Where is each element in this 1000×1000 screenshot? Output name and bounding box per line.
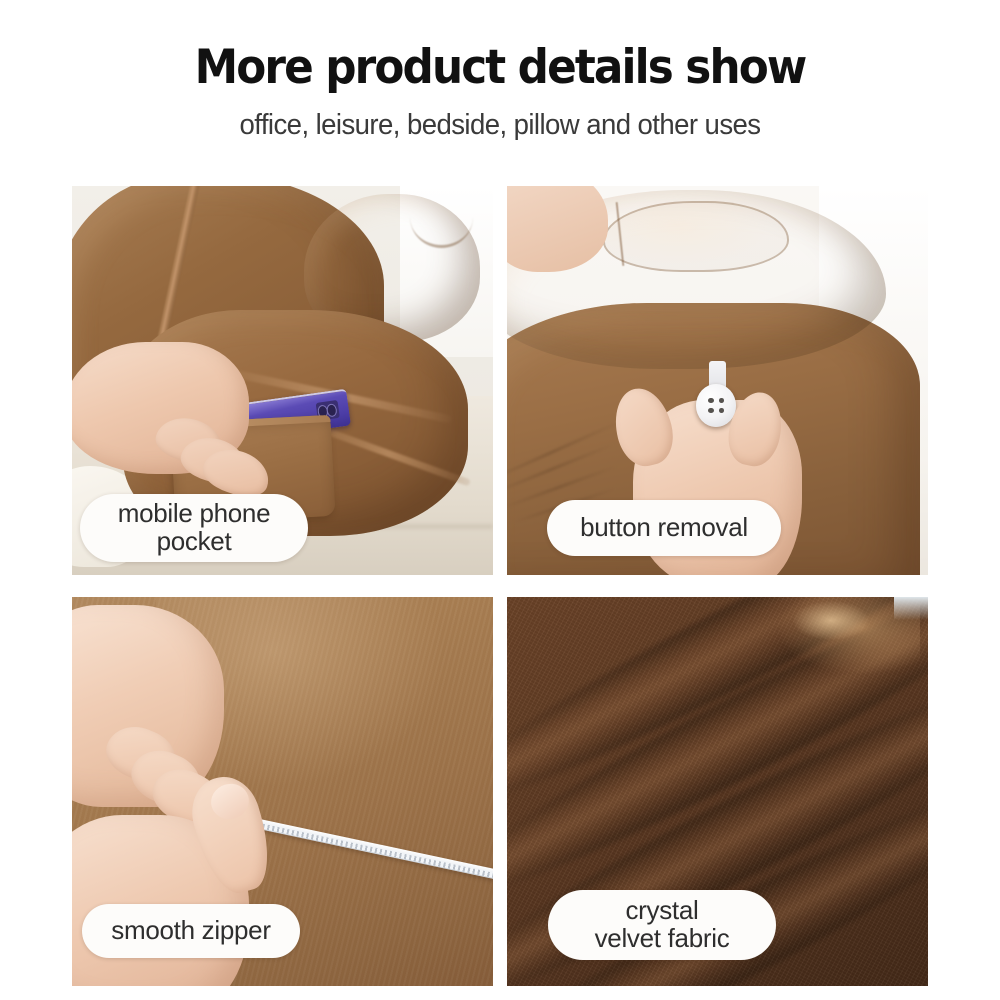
- caption-smooth-zipper: smooth zipper: [82, 904, 300, 958]
- button-hole: [708, 408, 714, 413]
- button-hole: [719, 408, 725, 413]
- fabric-wrinkle: [507, 443, 615, 497]
- bolster-seam: [410, 207, 474, 248]
- header: More product details show office, leisur…: [0, 0, 1000, 170]
- background-light: [894, 597, 928, 620]
- caption-button-removal: button removal: [547, 500, 781, 556]
- caption-mobile-phone-pocket: mobile phone pocket: [80, 494, 308, 562]
- caption-crystal-velvet-fabric: crystal velvet fabric: [548, 890, 776, 960]
- page-title: More product details show: [35, 42, 965, 94]
- fabric-wrinkle: [507, 419, 622, 485]
- page-subtitle: office, leisure, bedside, pillow and oth…: [25, 108, 975, 142]
- detail-photo-grid: [72, 186, 928, 986]
- button-hole: [719, 398, 725, 403]
- product-details-page: More product details show office, leisur…: [0, 0, 1000, 1000]
- fabric-highlight-bright: [793, 601, 869, 640]
- bolster-end-cap: [603, 201, 789, 273]
- button-hole: [708, 398, 714, 403]
